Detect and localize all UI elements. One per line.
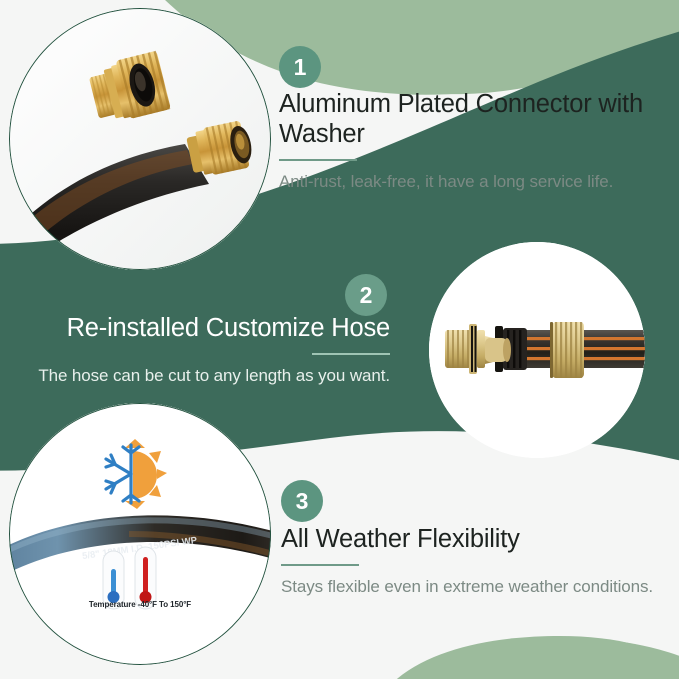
section-title-3: All Weather Flexibility [281, 525, 657, 555]
temperature-label: Temperature -40°F To 150°F [9, 600, 271, 609]
infographic-canvas: 1 Aluminum Plated Connector with Washer … [0, 0, 679, 679]
section-2-text: Re-installed Customize Hose The hose can… [24, 314, 390, 388]
brass-connector-photo [9, 8, 271, 270]
badge-number-2: 2 [360, 284, 373, 307]
section-divider-3 [281, 564, 359, 567]
section-3-text: All Weather Flexibility Stays flexible e… [281, 525, 657, 599]
sage-blob-bottom [360, 636, 679, 679]
section-title-1: Aluminum Plated Connector with Washer [279, 90, 655, 150]
badge-number-3: 3 [296, 490, 309, 513]
hose-fitting-illustration [429, 242, 645, 458]
section-badge-2: 2 [345, 274, 387, 316]
section-title-2: Re-installed Customize Hose [24, 314, 390, 344]
all-weather-hose-photo: 5/8" 18MM I.D. 150PSI WP Temperature -40… [9, 403, 271, 665]
section-description-2: The hose can be cut to any length as you… [24, 364, 390, 388]
section-divider-2 [312, 353, 390, 356]
section-description-3: Stays flexible even in extreme weather c… [281, 575, 657, 599]
section-1-text: Aluminum Plated Connector with Washer An… [279, 90, 655, 194]
section-description-1: Anti-rust, leak-free, it have a long ser… [279, 170, 655, 194]
section-badge-1: 1 [279, 46, 321, 88]
section-badge-3: 3 [281, 480, 323, 522]
section-divider-1 [279, 159, 357, 162]
badge-number-1: 1 [294, 56, 307, 79]
